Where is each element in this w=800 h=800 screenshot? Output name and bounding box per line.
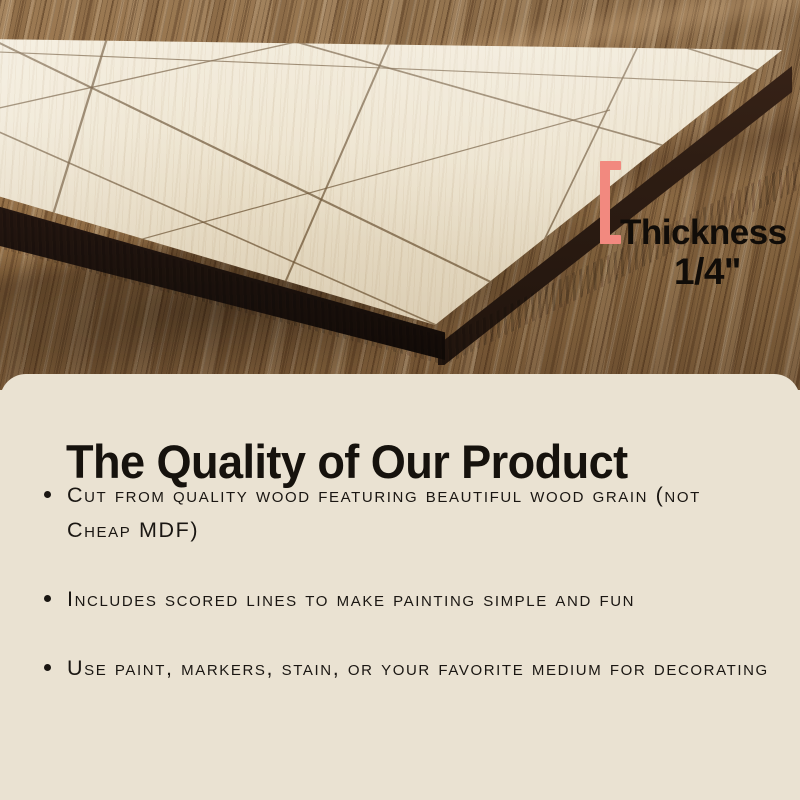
list-item-text: Cut from quality wood featuring beautifu… [67, 483, 701, 542]
bullet-dot-icon [44, 491, 51, 498]
list-item-text: Use paint, markers, stain, or your favor… [67, 656, 769, 680]
list-item: Cut from quality wood featuring beautifu… [42, 478, 772, 548]
bracket-bottom-cap [600, 235, 621, 244]
bullet-dot-icon [44, 595, 51, 602]
bullet-dot-icon [44, 664, 51, 671]
thickness-bracket-icon [600, 161, 621, 244]
thickness-value: 1/4" [620, 252, 795, 292]
thickness-label: Thickness [620, 214, 800, 252]
quality-panel: The Quality of Our Product Cut from qual… [0, 374, 800, 800]
bracket-vertical-bar [600, 161, 610, 244]
list-item: Includes scored lines to make painting s… [42, 582, 772, 617]
list-item-text: Includes scored lines to make painting s… [67, 587, 635, 611]
list-item: Use paint, markers, stain, or your favor… [42, 651, 772, 686]
wood-board [0, 0, 800, 390]
quality-bullet-list: Cut from quality wood featuring beautifu… [42, 478, 772, 720]
product-photo: Thickness 1/4" [0, 0, 800, 390]
infographic-canvas: Thickness 1/4" The Quality of Our Produc… [0, 0, 800, 800]
